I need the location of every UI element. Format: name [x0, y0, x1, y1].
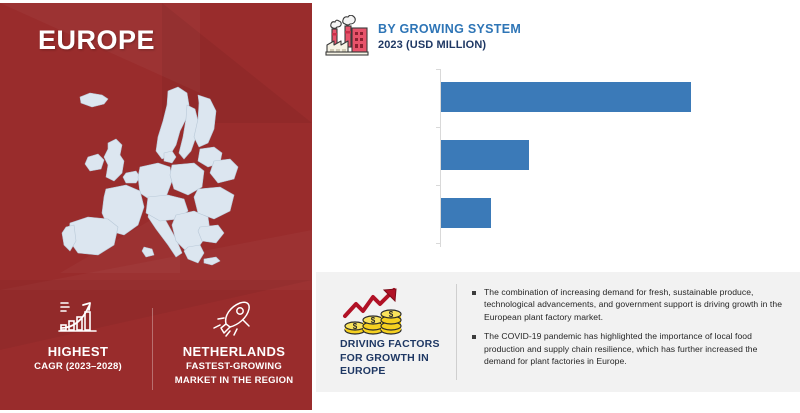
stat-headline: HIGHEST: [48, 344, 109, 359]
bullet-square-icon: [472, 291, 476, 295]
stat-subline: FASTEST-GROWING: [186, 361, 282, 373]
chart-title: BY GROWING SYSTEM: [378, 22, 521, 37]
stat-headline: NETHERLANDS: [183, 344, 286, 359]
stat-highest-cagr: HIGHEST CAGR (2023–2028): [0, 288, 156, 373]
svg-text:$: $: [371, 316, 376, 325]
axis-tick: [436, 243, 441, 244]
bullet-square-icon: [472, 335, 476, 339]
driving-factors-heading: DRIVING FACTORS FOR GROWTH IN EUROPE: [340, 338, 448, 379]
bar-soil-based[interactable]: [441, 82, 691, 112]
bar-hybrid[interactable]: [441, 198, 491, 228]
factory-icon: [324, 15, 370, 59]
axis-tick: [436, 127, 441, 128]
europe-map-icon: [48, 81, 258, 266]
list-item-text: The COVID-19 pandemic has highlighted th…: [484, 330, 790, 367]
list-item: The COVID-19 pandemic has highlighted th…: [472, 330, 790, 367]
stat-subline: CAGR (2023–2028): [34, 361, 122, 373]
list-item-text: The combination of increasing demand for…: [484, 286, 790, 323]
factors-divider: [456, 284, 457, 380]
driving-factors-list: The combination of increasing demand for…: [472, 286, 790, 374]
chart-subtitle: 2023 (USD MILLION): [378, 38, 521, 52]
chart-panel: BY GROWING SYSTEM 2023 (USD MILLION) Soi…: [316, 3, 800, 268]
svg-text:$: $: [389, 310, 394, 319]
svg-text:$: $: [353, 322, 358, 331]
region-stats: HIGHEST CAGR (2023–2028): [0, 288, 312, 398]
growth-bar-chart-arrow-icon: [56, 294, 100, 338]
region-panel: EUROPE: [0, 3, 312, 410]
axis-tick: [436, 185, 441, 186]
region-title: EUROPE: [38, 25, 155, 56]
stat-subline: MARKET IN THE REGION: [175, 375, 294, 387]
coins-growth-arrow-icon: $ $ $: [342, 286, 404, 336]
bar-chart: Soil Based Non-soil based Hybrid: [316, 65, 800, 253]
rocket-icon: [212, 294, 256, 338]
stat-fastest-growing-country: NETHERLANDS FASTEST-GROWING MARKET IN TH…: [156, 288, 312, 387]
axis-tick: [436, 69, 441, 70]
infographic-root: EUROPE: [0, 0, 800, 413]
list-item: The combination of increasing demand for…: [472, 286, 790, 323]
chart-header: BY GROWING SYSTEM 2023 (USD MILLION): [324, 15, 521, 59]
bar-non-soil-based[interactable]: [441, 140, 529, 170]
driving-factors-panel: $ $ $ DRIVING FACTORS FOR GROWTH IN EURO…: [316, 272, 800, 392]
chart-title-block: BY GROWING SYSTEM 2023 (USD MILLION): [378, 22, 521, 52]
